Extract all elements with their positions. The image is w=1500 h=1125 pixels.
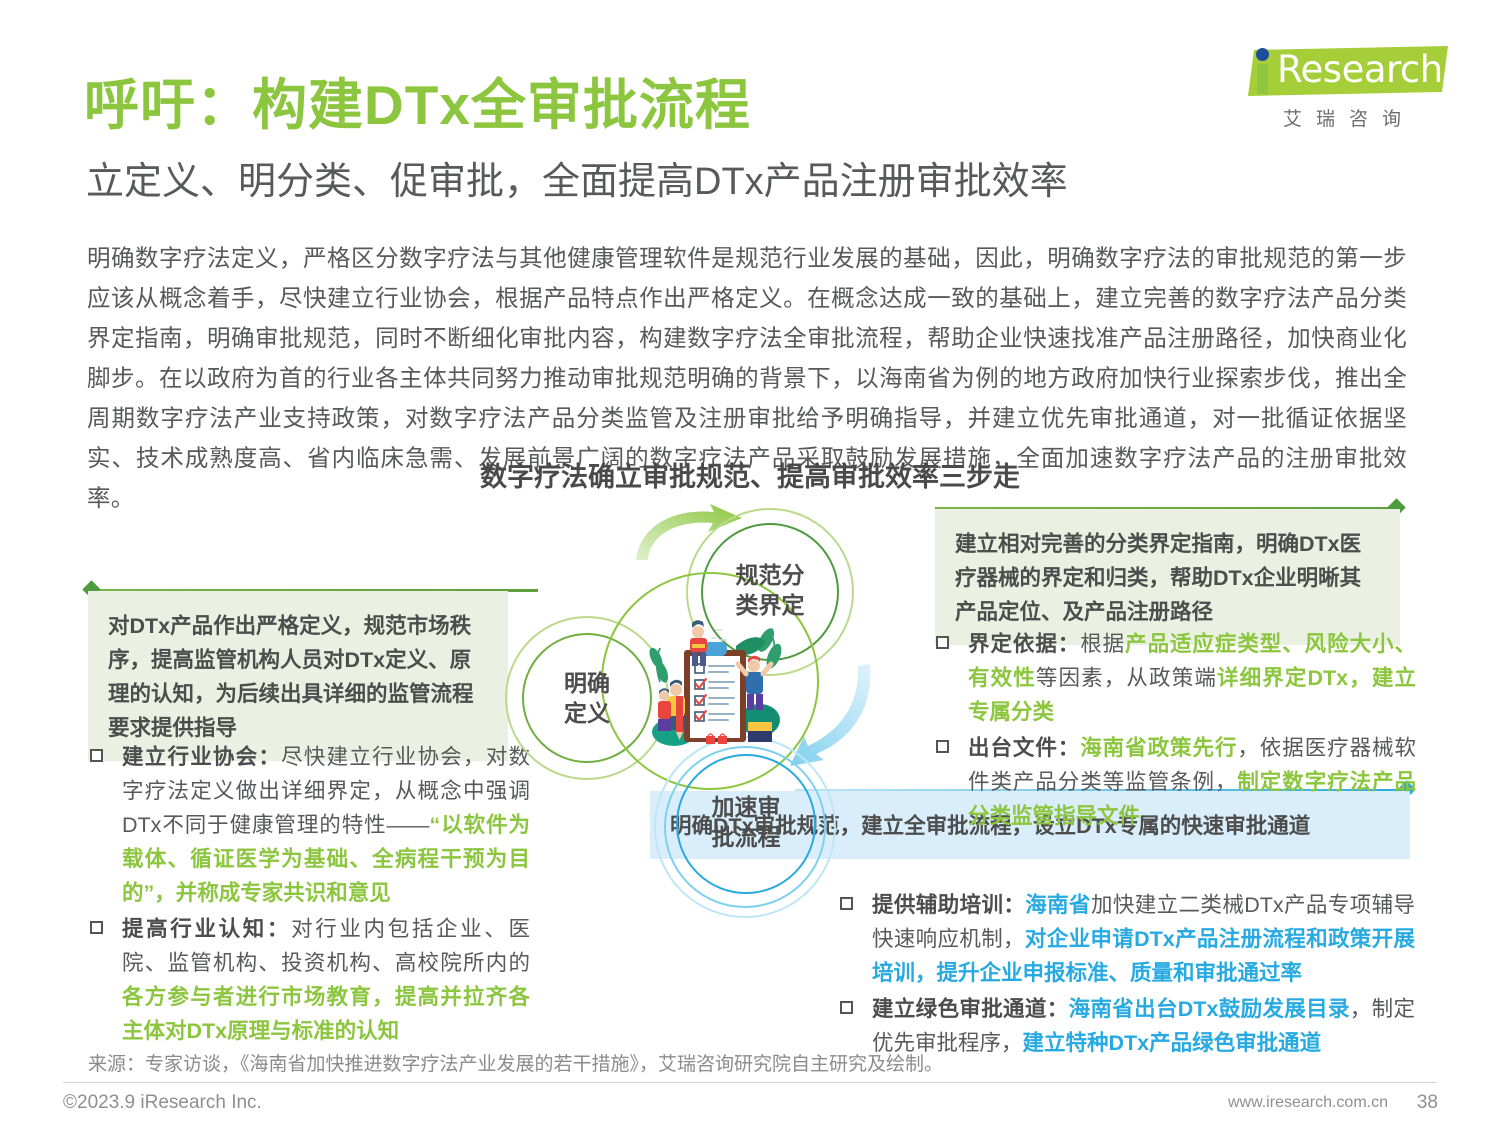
bullet-highlight: 各方参与者进行市场教育，提高并拉齐各主体对DTx原理与标准的认知 bbox=[122, 985, 530, 1043]
bullet-highlight: 海南省政策先行 bbox=[1080, 736, 1237, 760]
page-subtitle: 立定义、明分类、促审批，全面提高DTx产品注册审批效率 bbox=[86, 150, 1068, 205]
list-item: 界定依据：根据产品适应症类型、风险大小、有效性等因素，从政策端详细界定DTx，建… bbox=[936, 627, 1416, 729]
bullet-lead: 界定依据： bbox=[968, 632, 1080, 656]
circle-label-line: 批流程 bbox=[678, 822, 814, 852]
bullet-lead: 出台文件： bbox=[968, 736, 1080, 760]
bullet-list-blue: 提供辅助培训：海南省加快建立二类械DTx产品专项辅导快速响应机制，对企业申请DT… bbox=[840, 888, 1415, 1062]
checklist-illustration-icon bbox=[640, 610, 788, 752]
square-bullet-icon bbox=[90, 921, 103, 934]
bullet-text: 等因素，从政策端 bbox=[1036, 666, 1217, 690]
circle-label-line: 类界定 bbox=[702, 590, 838, 620]
website-url: www.iresearch.com.cn bbox=[1228, 1094, 1388, 1112]
callout-left-define: 对DTx产品作出严格定义，规范市场秩序，提高监管机构人员对DTx定义、原理的认知… bbox=[88, 591, 508, 761]
copyright-text: ©2023.9 iResearch Inc. bbox=[63, 1092, 262, 1114]
circle-label-line: 加速审 bbox=[678, 792, 814, 822]
circle-label-line: 定义 bbox=[526, 698, 648, 728]
bullet-list-right: 界定依据：根据产品适应症类型、风险大小、有效性等因素，从政策端详细界定DTx，建… bbox=[936, 627, 1416, 835]
bullet-text: 根据 bbox=[1080, 632, 1125, 656]
logo-wordmark: Research bbox=[1277, 48, 1443, 91]
circle-label-define: 明确 定义 bbox=[526, 668, 648, 728]
callout-right-classify: 建立相对完善的分类界定指南，明确DTx医疗器械的界定和归类，帮助DTx企业明晰其… bbox=[935, 509, 1400, 645]
circle-label-classify: 规范分 类界定 bbox=[702, 560, 838, 620]
page-number: 38 bbox=[1417, 1092, 1438, 1114]
slide-page: Research 艾瑞咨询 呼吁：构建DTx全审批流程 立定义、明分类、促审批，… bbox=[0, 0, 1500, 1125]
bullet-lead: 建立行业协会： bbox=[122, 745, 281, 769]
bullet-lead: 提供辅助培训： bbox=[872, 893, 1025, 917]
three-step-circle-diagram: 明确 定义 规范分 类界定 加速审 批流程 bbox=[496, 500, 926, 890]
bullet-lead: 提高行业认知： bbox=[122, 917, 291, 941]
square-bullet-icon bbox=[90, 749, 103, 762]
square-bullet-icon bbox=[936, 636, 949, 649]
bullet-list-left: 建立行业协会：尽快建立行业协会，对数字疗法定义做出详细界定，从概念中强调DTx不… bbox=[90, 740, 530, 1050]
circle-label-line: 明确 bbox=[526, 668, 648, 698]
list-item: 提高行业认知：对行业内包括企业、医院、监管机构、投资机构、高校院所内的各方参与者… bbox=[90, 912, 530, 1048]
section-heading: 数字疗法确立审批规范、提高审批效率三步走 bbox=[0, 455, 1500, 494]
source-note: 来源：专家访谈，《海南省加快推进数字疗法产业发展的若干措施》，艾瑞咨询研究院自主… bbox=[88, 1049, 943, 1076]
square-bullet-icon bbox=[840, 1001, 853, 1014]
list-item: 出台文件：海南省政策先行，依据医疗器械软件类产品分类等监管条例，制定数字疗法产品… bbox=[936, 731, 1416, 833]
circle-label-approval: 加速审 批流程 bbox=[678, 792, 814, 852]
bullet-highlight: 建立特种DTx产品绿色审批通道 bbox=[1023, 1031, 1322, 1055]
square-bullet-icon bbox=[936, 740, 949, 753]
logo-i-dot-icon bbox=[1256, 48, 1269, 61]
circle-label-line: 规范分 bbox=[702, 560, 838, 590]
footer-divider bbox=[63, 1082, 1437, 1083]
bullet-highlight: 海南省出台DTx鼓励发展目录 bbox=[1069, 997, 1350, 1021]
square-bullet-icon bbox=[840, 897, 853, 910]
bullet-highlight: 海南省 bbox=[1025, 893, 1091, 917]
logo-i-stem-icon bbox=[1257, 64, 1268, 94]
iresearch-logo: Research 艾瑞咨询 bbox=[1230, 44, 1448, 140]
logo-chinese-name: 艾瑞咨询 bbox=[1254, 104, 1444, 131]
list-item: 建立行业协会：尽快建立行业协会，对数字疗法定义做出详细界定，从概念中强调DTx不… bbox=[90, 740, 530, 910]
logo-mark: Research bbox=[1230, 44, 1448, 100]
page-title: 呼吁：构建DTx全审批流程 bbox=[84, 60, 751, 140]
list-item: 提供辅助培训：海南省加快建立二类械DTx产品专项辅导快速响应机制，对企业申请DT… bbox=[840, 888, 1415, 990]
bullet-lead: 建立绿色审批通道： bbox=[872, 997, 1069, 1021]
